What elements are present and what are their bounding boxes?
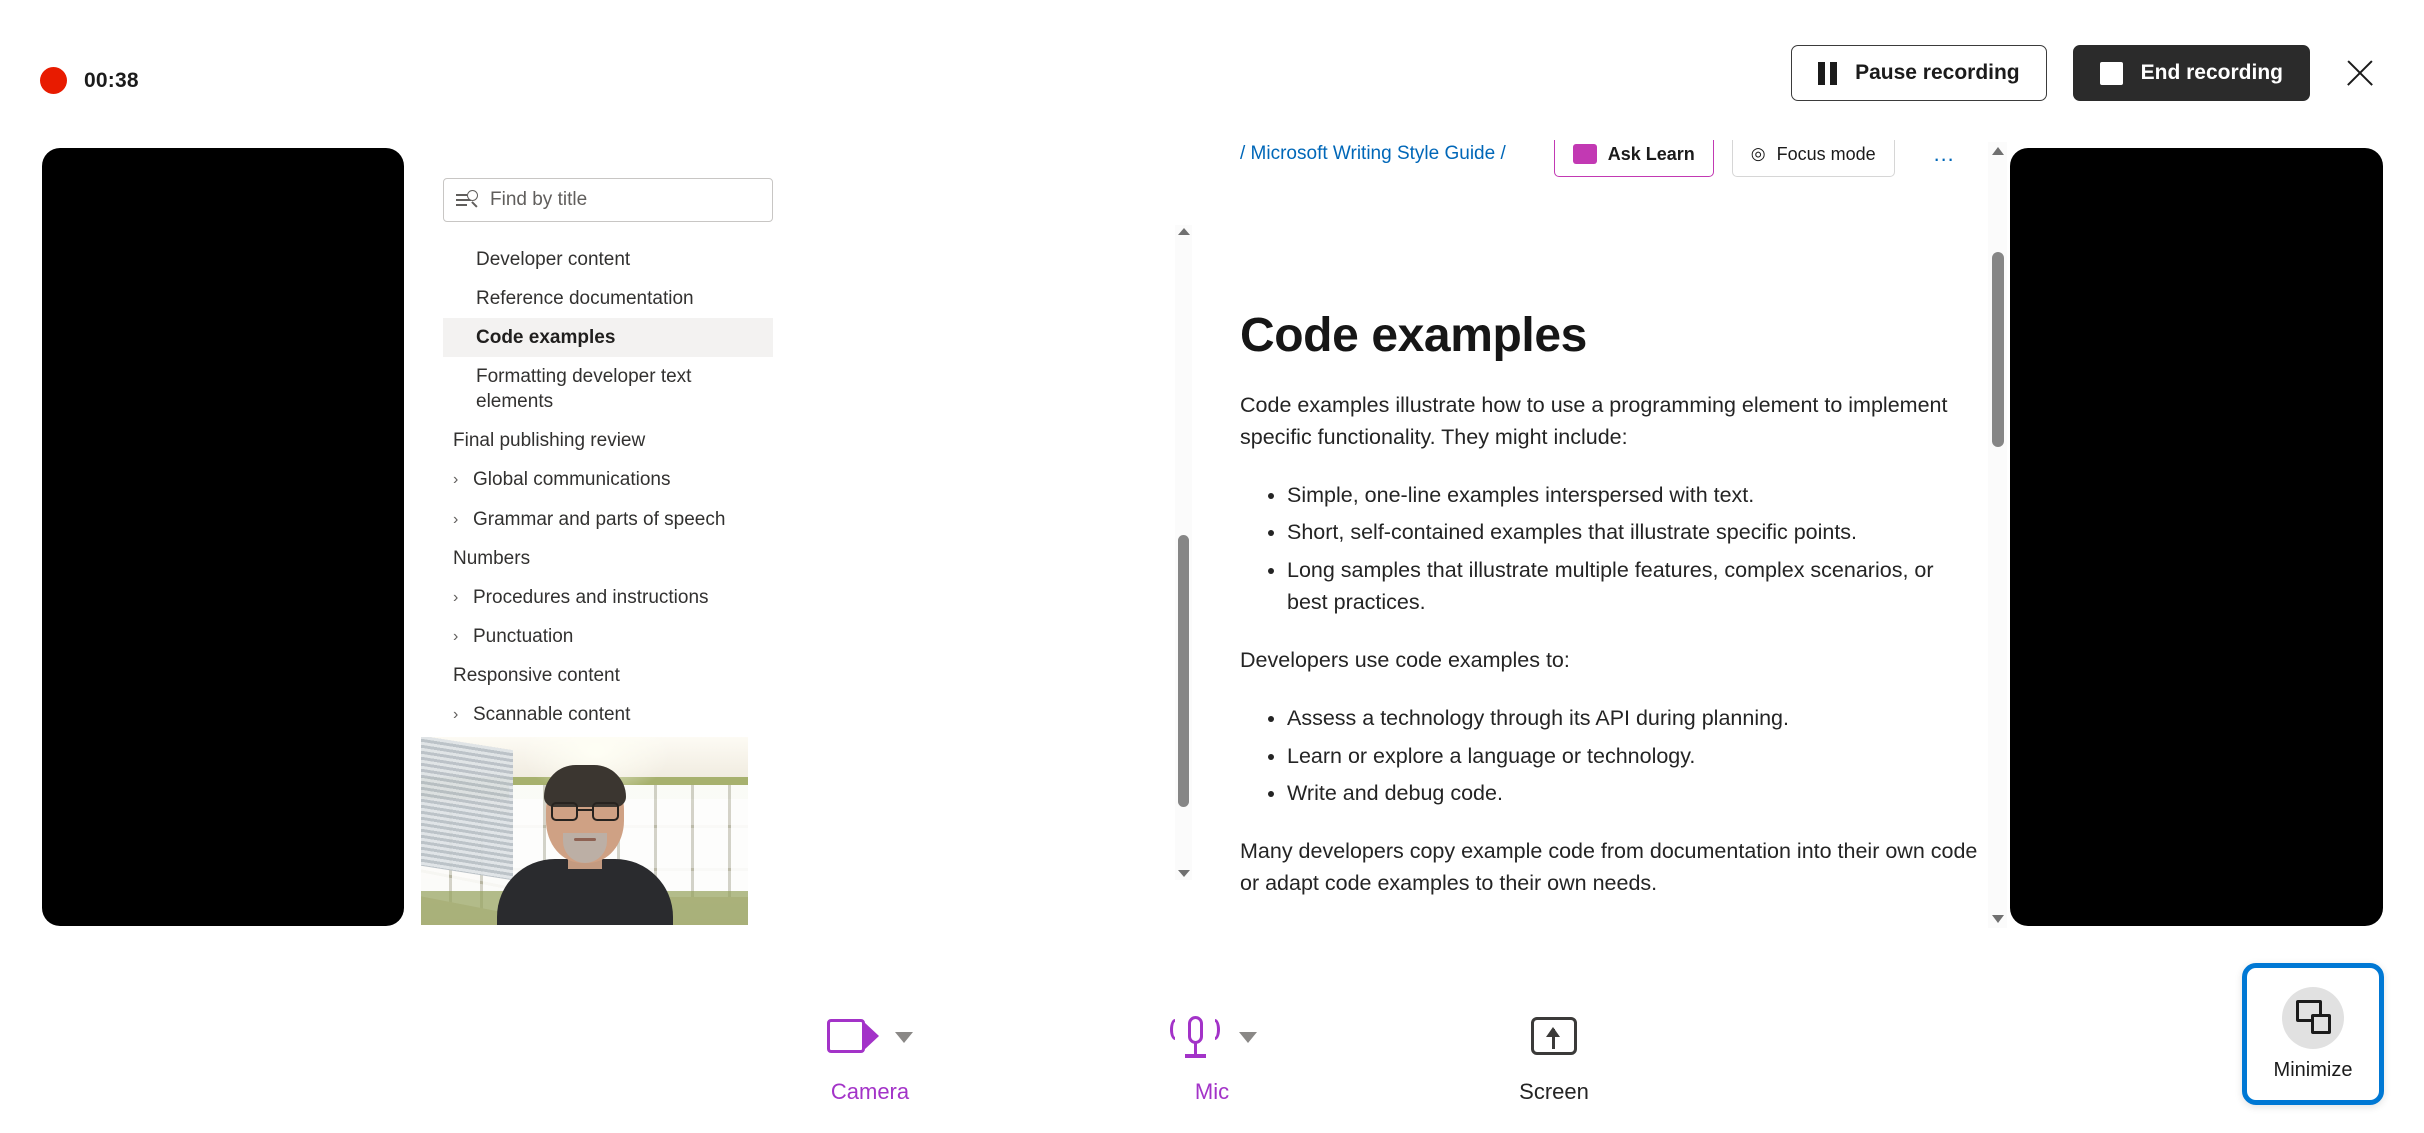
toc-item[interactable]: Developer content bbox=[443, 240, 773, 279]
toc-item[interactable]: Numbers bbox=[443, 539, 773, 578]
camera-icon[interactable] bbox=[827, 1019, 879, 1055]
breadcrumb[interactable]: / Microsoft Writing Style Guide / bbox=[1240, 143, 1506, 165]
toc-item[interactable]: Reference documentation bbox=[443, 279, 773, 318]
video-pane-right bbox=[2010, 148, 2383, 926]
toc-item-label: Numbers bbox=[453, 546, 530, 571]
video-pane-left bbox=[42, 148, 404, 926]
list-item: Assess a technology through its API duri… bbox=[1287, 703, 1980, 735]
end-recording-label: End recording bbox=[2141, 61, 2283, 85]
chevron-right-icon[interactable]: › bbox=[453, 629, 467, 645]
ask-learn-button[interactable]: Ask Learn bbox=[1554, 140, 1714, 177]
toc-item[interactable]: Code examples bbox=[443, 318, 773, 357]
list-item: Short, self-contained examples that illu… bbox=[1287, 517, 1980, 549]
toc-search-input[interactable] bbox=[490, 189, 760, 211]
bullet-list-2: Assess a technology through its API duri… bbox=[1240, 703, 1980, 810]
mic-label: Mic bbox=[1195, 1079, 1229, 1105]
toc-item-label: Scannable content bbox=[473, 702, 630, 727]
recording-indicator: 00:38 bbox=[40, 67, 139, 94]
paragraph-2: Developers use code examples to: bbox=[1240, 645, 1980, 677]
toc-scroll-up-icon[interactable] bbox=[1178, 228, 1190, 235]
page-scroll-thumb[interactable] bbox=[1992, 252, 2004, 447]
toc-item-label: Developer content bbox=[476, 247, 630, 272]
article-toolbar: Ask Learn ◎ Focus mode … bbox=[1554, 140, 1955, 177]
page-scrollbar[interactable] bbox=[1988, 142, 2007, 928]
toc-item[interactable]: Responsive content bbox=[443, 656, 773, 695]
chevron-right-icon[interactable]: › bbox=[453, 472, 467, 488]
toc-item[interactable]: Final publishing review bbox=[443, 421, 773, 460]
minimize-label: Minimize bbox=[2274, 1059, 2353, 1082]
camera-label: Camera bbox=[831, 1079, 909, 1105]
recording-controls: Pause recording End recording bbox=[1791, 45, 2384, 101]
toc-item[interactable]: ›Grammar and parts of speech bbox=[443, 500, 773, 539]
screen-label: Screen bbox=[1519, 1079, 1589, 1105]
ask-learn-icon bbox=[1573, 144, 1597, 164]
pause-recording-label: Pause recording bbox=[1855, 61, 2020, 85]
toc-scroll-down-icon[interactable] bbox=[1178, 870, 1190, 877]
page-scroll-up-icon[interactable] bbox=[1992, 147, 2004, 155]
toc-item[interactable]: ›Scannable content bbox=[443, 695, 773, 734]
article-body: Code examples illustrate how to use a pr… bbox=[1240, 390, 1980, 930]
toc-item-label: Reference documentation bbox=[476, 286, 694, 311]
toc-scrollbar[interactable] bbox=[1175, 225, 1192, 880]
page-title: Code examples bbox=[1240, 308, 1587, 363]
pause-icon bbox=[1818, 62, 1837, 85]
toc-item[interactable]: ›Global communications bbox=[443, 460, 773, 499]
toc-item[interactable]: ›Procedures and instructions bbox=[443, 578, 773, 617]
toc-item-label: Global communications bbox=[473, 467, 670, 492]
list-item: Simple, one-line examples interspersed w… bbox=[1287, 480, 1980, 512]
list-item: Long samples that illustrate multiple fe… bbox=[1287, 555, 1980, 619]
screen-control[interactable]: Screen bbox=[1459, 1009, 1649, 1105]
chevron-right-icon[interactable]: › bbox=[453, 512, 467, 528]
toc-item-label: Code examples bbox=[476, 325, 615, 350]
list-item: Learn or explore a language or technolog… bbox=[1287, 741, 1980, 773]
toc-item-label: Responsive content bbox=[453, 663, 620, 688]
focus-mode-icon: ◎ bbox=[1751, 144, 1766, 164]
focus-mode-label: Focus mode bbox=[1777, 144, 1876, 165]
screen-share-icon[interactable] bbox=[1531, 1017, 1577, 1057]
toc-search-box[interactable] bbox=[443, 178, 773, 222]
webcam-self-view bbox=[421, 737, 748, 925]
mic-control[interactable]: Mic bbox=[1117, 1009, 1307, 1105]
toc-item-label: Grammar and parts of speech bbox=[473, 507, 725, 532]
recording-dot-icon bbox=[40, 67, 67, 94]
mic-icon[interactable] bbox=[1167, 1014, 1223, 1060]
mic-dropdown-caret-icon[interactable] bbox=[1239, 1032, 1257, 1043]
article-topbar: / Microsoft Writing Style Guide / Ask Le… bbox=[1240, 140, 2010, 182]
page-scroll-down-icon[interactable] bbox=[1992, 915, 2004, 923]
toc-item-label: Punctuation bbox=[473, 624, 573, 649]
list-item: Write and debug code. bbox=[1287, 778, 1980, 810]
more-options-button[interactable]: … bbox=[1933, 141, 1955, 167]
device-toolbar: Camera Mic Screen bbox=[0, 1009, 2424, 1105]
camera-dropdown-caret-icon[interactable] bbox=[895, 1032, 913, 1043]
paragraph-3: Many developers copy example code from d… bbox=[1240, 836, 1980, 900]
stop-icon bbox=[2100, 62, 2123, 85]
toc-item[interactable]: Formatting developer text elements bbox=[443, 357, 773, 421]
toc-item-label: Formatting developer text elements bbox=[476, 364, 761, 414]
chevron-right-icon[interactable]: › bbox=[453, 590, 467, 606]
pause-recording-button[interactable]: Pause recording bbox=[1791, 45, 2047, 101]
bullet-list-1: Simple, one-line examples interspersed w… bbox=[1240, 480, 1980, 619]
camera-control[interactable]: Camera bbox=[775, 1009, 965, 1105]
close-button[interactable] bbox=[2336, 49, 2384, 97]
recording-elapsed-time: 00:38 bbox=[84, 69, 139, 93]
paragraph-4: To create useful code examples, identify… bbox=[1240, 926, 1980, 930]
toc-item[interactable]: ›Punctuation bbox=[443, 617, 773, 656]
minimize-button[interactable]: Minimize bbox=[2242, 963, 2384, 1105]
article: / Microsoft Writing Style Guide / Ask Le… bbox=[1210, 140, 2010, 930]
chevron-right-icon[interactable]: › bbox=[453, 707, 467, 723]
recorder-overlay-window: 00:38 Pause recording End recording bbox=[0, 0, 2424, 1133]
minimize-icon bbox=[2282, 987, 2344, 1049]
paragraph-1: Code examples illustrate how to use a pr… bbox=[1240, 390, 1980, 454]
toc-item-label: Procedures and instructions bbox=[473, 585, 709, 610]
ask-learn-label: Ask Learn bbox=[1608, 144, 1695, 165]
end-recording-button[interactable]: End recording bbox=[2073, 45, 2310, 101]
toc-item-label: Final publishing review bbox=[453, 428, 645, 453]
find-by-title-icon bbox=[456, 190, 478, 210]
focus-mode-button[interactable]: ◎ Focus mode bbox=[1732, 140, 1895, 177]
toc-scroll-thumb[interactable] bbox=[1178, 535, 1189, 807]
